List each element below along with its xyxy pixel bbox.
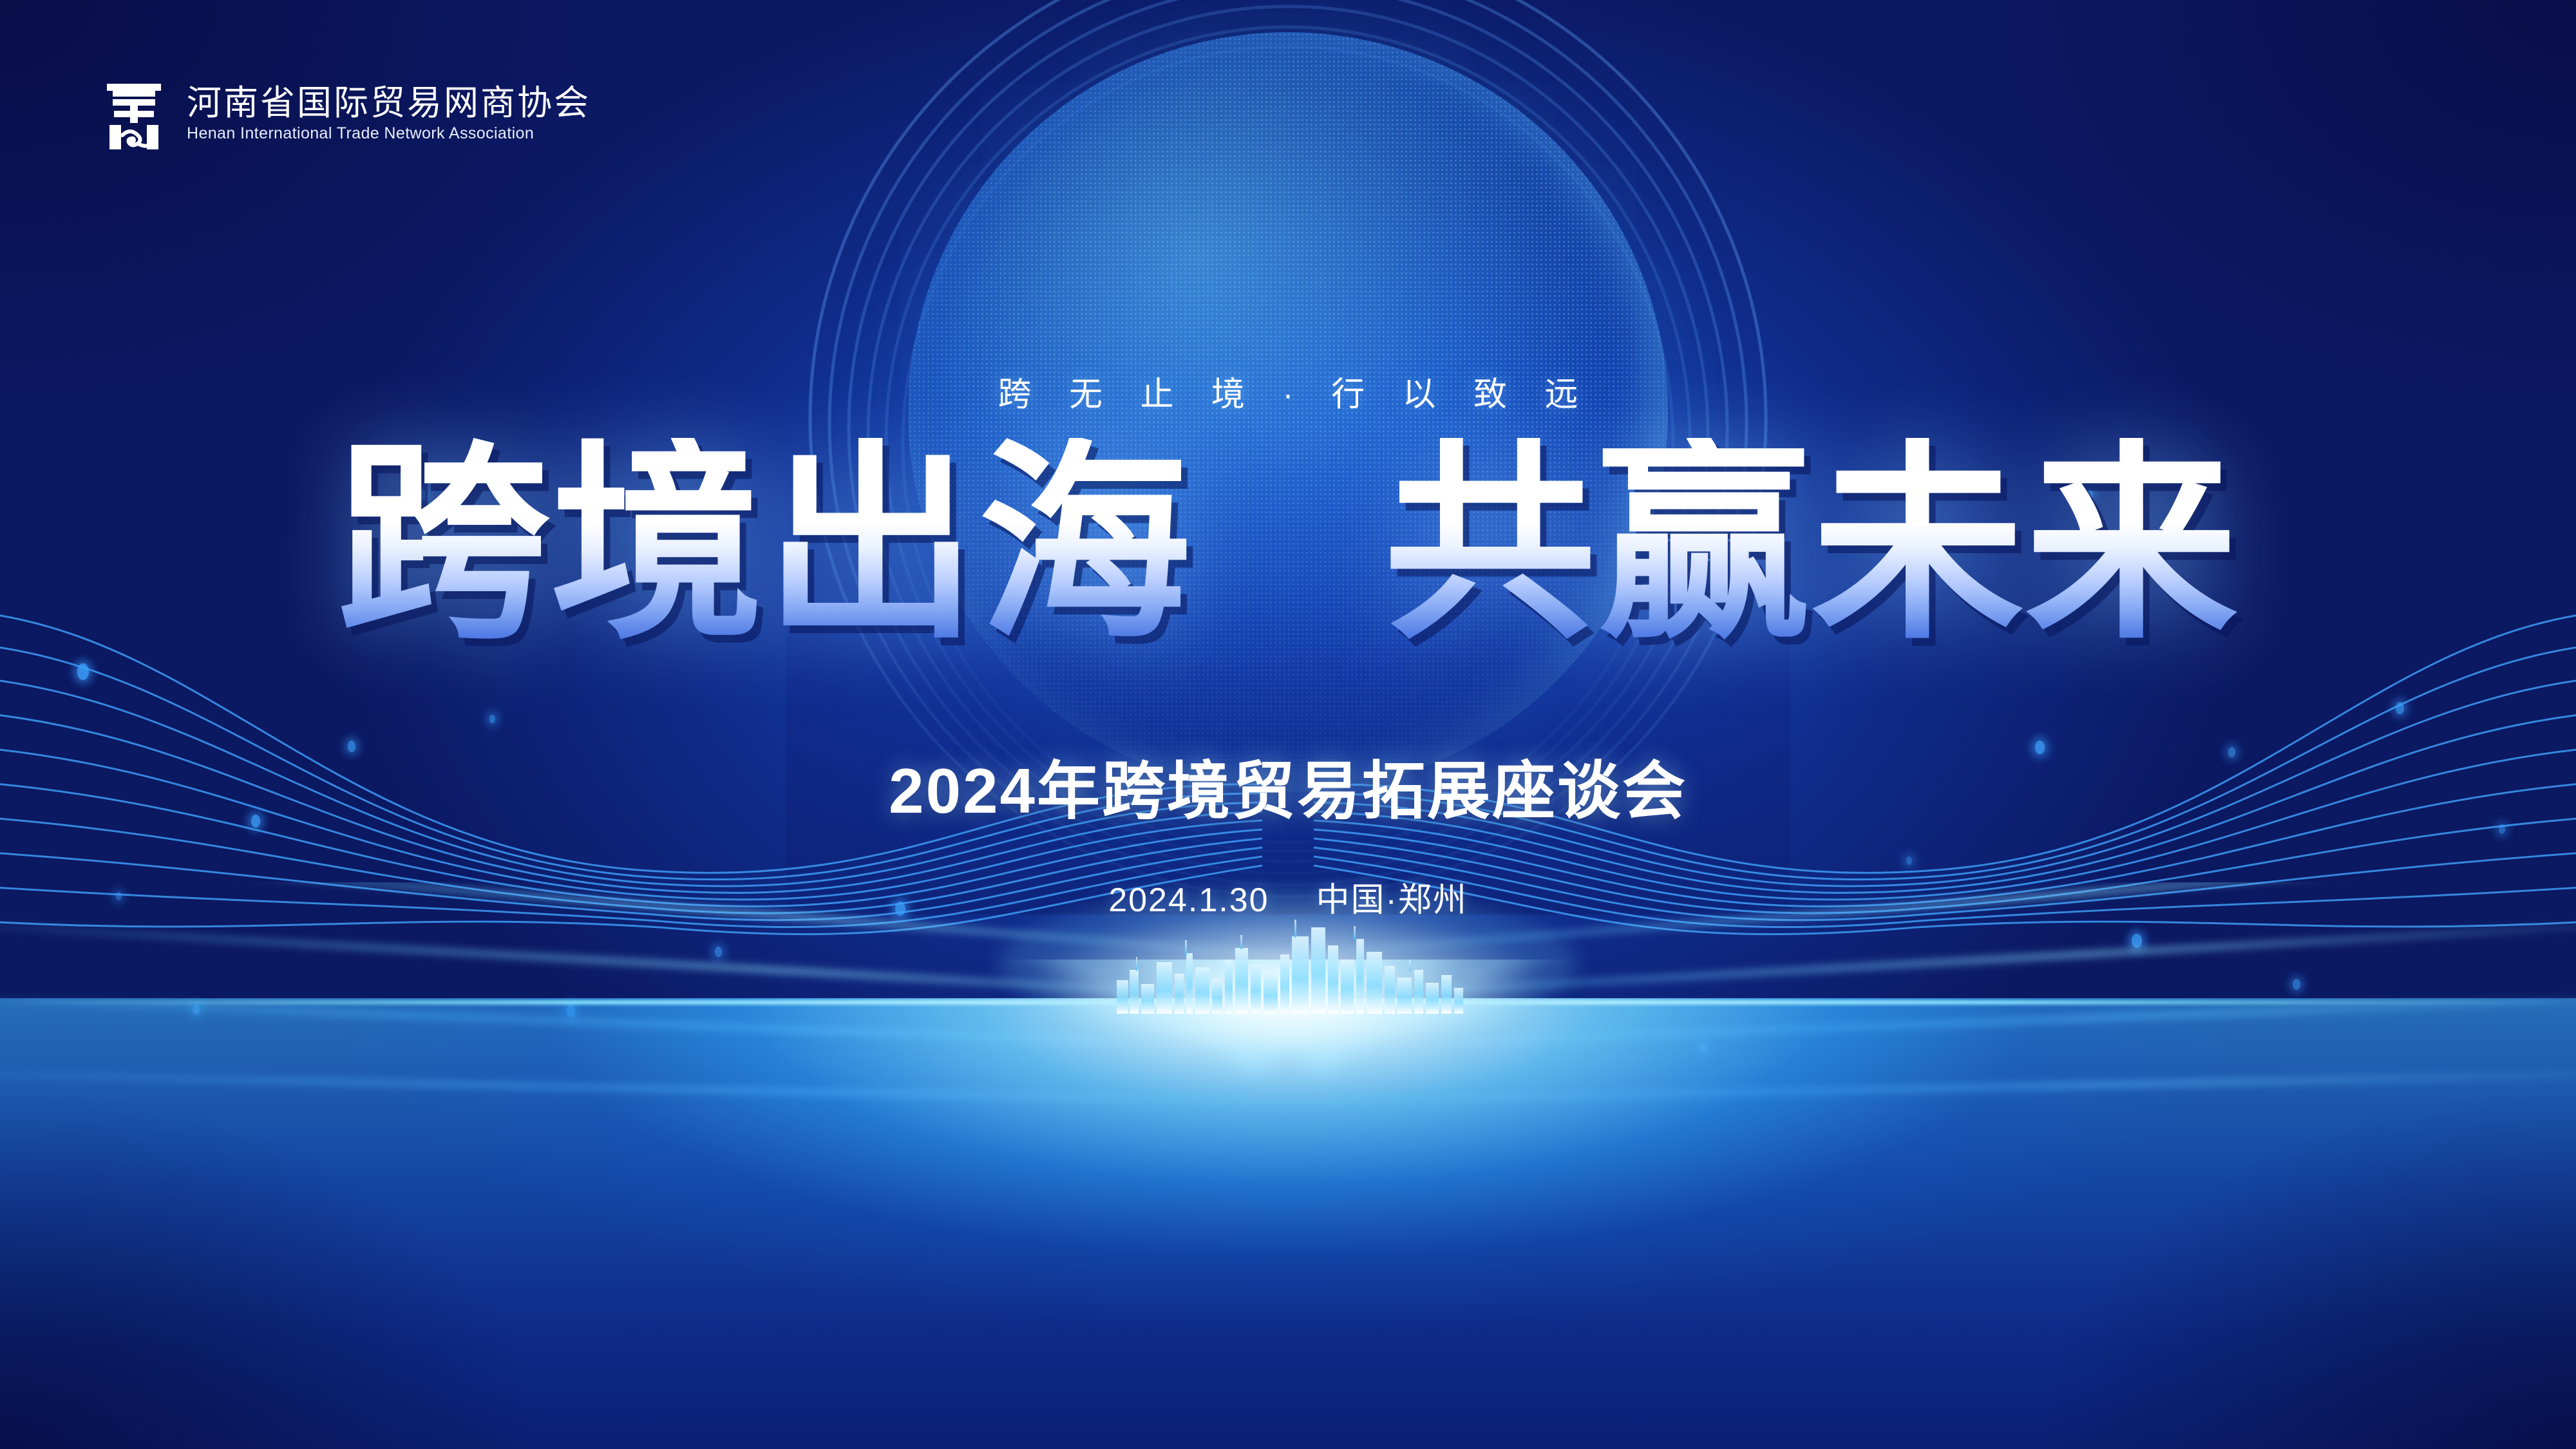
hero-tagline: 跨 无 止 境 · 行 以 致 远 [0,367,2576,415]
association-logo[interactable]: 河南省国际贸易网商协会 Henan International Trade Ne… [103,77,591,149]
yu-seal-logo-icon [103,77,165,149]
event-date: 2024.1.30 [1108,882,1269,919]
hero-subtitle: 2024年跨境贸易拓展座谈会 [0,757,2576,826]
logo-org-name-en: Henan International Trade Network Associ… [187,126,591,142]
event-location: 中国·郑州 [1316,882,1467,919]
logo-org-name-cn: 河南省国际贸易网商协会 [187,86,591,120]
hero-date-location: 2024.1.30 中国·郑州 [0,873,2576,921]
corner-vignette [0,0,2576,1449]
event-poster: 河南省国际贸易网商协会 Henan International Trade Ne… [0,0,2576,1449]
headline-part-1: 跨境出海 [337,438,1192,650]
hero-headline: 跨境出海 共赢未来 [0,438,2576,650]
headline-part-2: 共赢未来 [1384,438,2239,650]
